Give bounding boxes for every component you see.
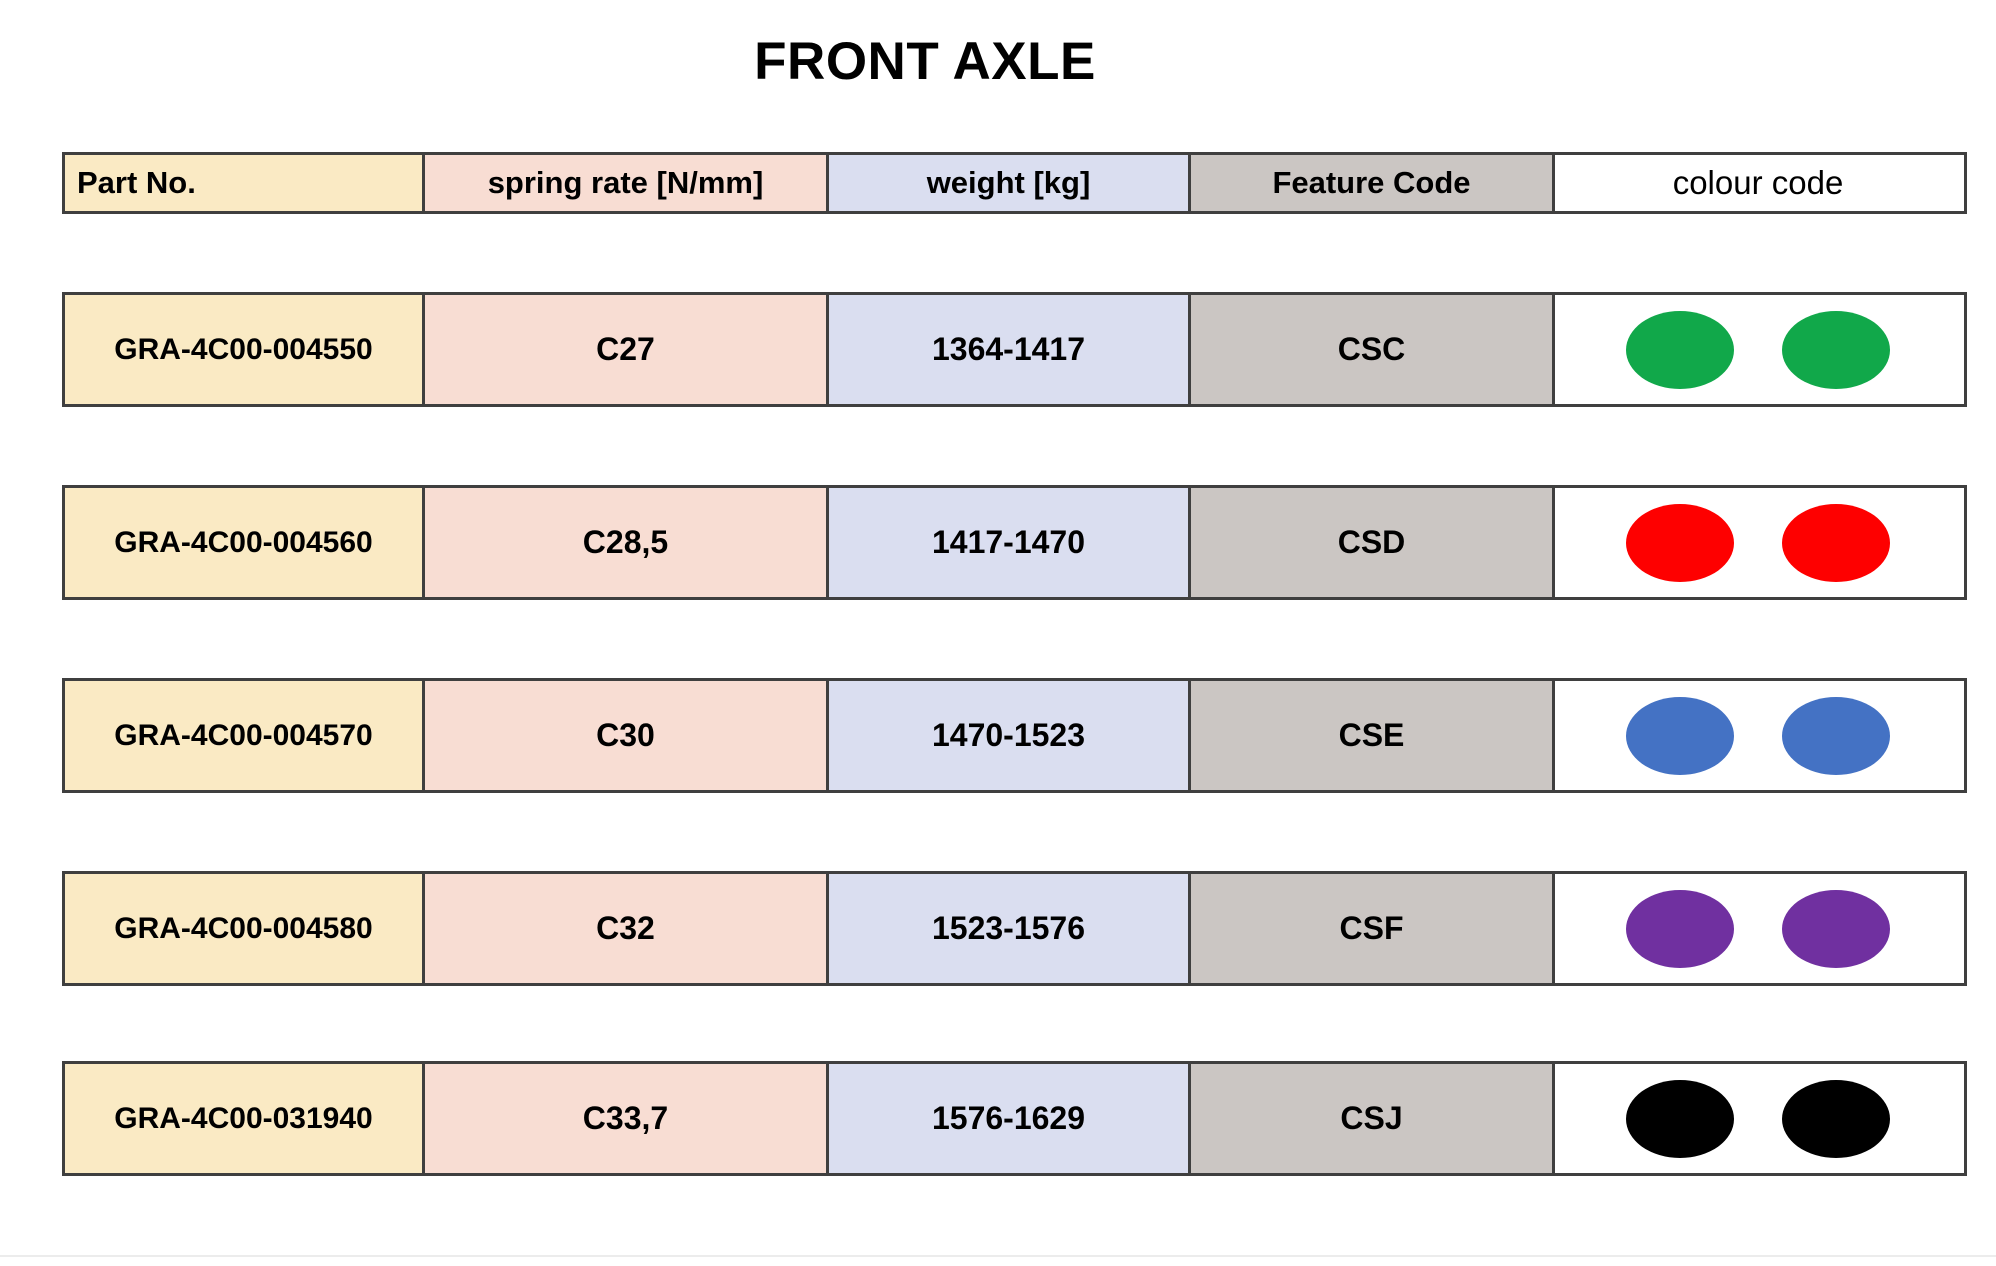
cell-part-no: GRA-4C00-004580 [65,874,425,983]
cell-spring-rate: C28,5 [425,488,829,597]
row-spacer [62,986,1967,1061]
colour-dot-icon [1782,311,1890,389]
cell-part-no: GRA-4C00-031940 [65,1064,425,1173]
colour-dot-icon [1626,697,1734,775]
page-title: FRONT AXLE [0,34,1850,90]
cell-part-no: GRA-4C00-004560 [65,488,425,597]
cell-part-no: GRA-4C00-004570 [65,681,425,790]
cell-spring-rate: C27 [425,295,829,404]
cell-colour-code [1555,874,1961,983]
document-sheet: FRONT AXLE Part No. spring rate [N/mm] w… [0,0,1996,1266]
cell-colour-code [1555,681,1961,790]
header-feature-code: Feature Code [1191,155,1555,211]
header-spring-rate: spring rate [N/mm] [425,155,829,211]
header-weight: weight [kg] [829,155,1191,211]
cell-weight: 1364-1417 [829,295,1191,404]
cell-spring-rate: C30 [425,681,829,790]
cell-weight: 1470-1523 [829,681,1191,790]
cell-weight: 1523-1576 [829,874,1191,983]
bottom-divider [0,1255,1996,1257]
table-header-row: Part No. spring rate [N/mm] weight [kg] … [62,152,1967,214]
colour-dot-icon [1782,890,1890,968]
row-spacer [62,793,1967,871]
row-spacer [62,407,1967,485]
colour-dot-icon [1626,504,1734,582]
cell-feature-code: CSC [1191,295,1555,404]
table-row: GRA-4C00-004580 C32 1523-1576 CSF [62,871,1967,986]
colour-dot-icon [1782,504,1890,582]
cell-colour-code [1555,295,1961,404]
cell-colour-code [1555,488,1961,597]
colour-dot-icon [1626,890,1734,968]
table-row: GRA-4C00-004570 C30 1470-1523 CSE [62,678,1967,793]
cell-part-no: GRA-4C00-004550 [65,295,425,404]
cell-weight: 1576-1629 [829,1064,1191,1173]
header-colour-code: colour code [1555,155,1961,211]
row-spacer [62,600,1967,678]
colour-dot-icon [1626,1080,1734,1158]
parts-table: Part No. spring rate [N/mm] weight [kg] … [62,152,1967,1176]
colour-dot-icon [1626,311,1734,389]
cell-spring-rate: C32 [425,874,829,983]
cell-weight: 1417-1470 [829,488,1191,597]
cell-feature-code: CSD [1191,488,1555,597]
cell-feature-code: CSJ [1191,1064,1555,1173]
colour-dot-icon [1782,697,1890,775]
colour-dot-icon [1782,1080,1890,1158]
cell-feature-code: CSE [1191,681,1555,790]
header-part-no: Part No. [65,155,425,211]
table-row: GRA-4C00-031940 C33,7 1576-1629 CSJ [62,1061,1967,1176]
row-spacer [62,214,1967,292]
cell-spring-rate: C33,7 [425,1064,829,1173]
cell-feature-code: CSF [1191,874,1555,983]
table-row: GRA-4C00-004560 C28,5 1417-1470 CSD [62,485,1967,600]
cell-colour-code [1555,1064,1961,1173]
table-row: GRA-4C00-004550 C27 1364-1417 CSC [62,292,1967,407]
